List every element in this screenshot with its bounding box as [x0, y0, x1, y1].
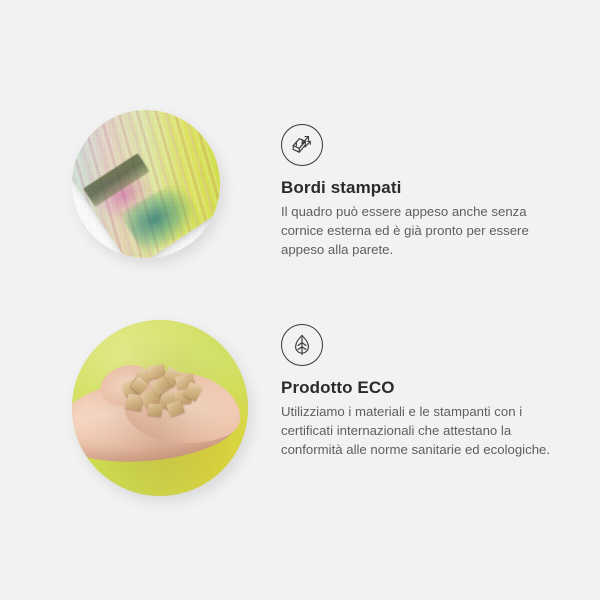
- canvas-artwork-illustration: [72, 110, 220, 258]
- hands-holding-wood-chips-photo: [72, 320, 248, 496]
- photo-shadow-overlay: [72, 320, 248, 496]
- printed-edges-icon: [281, 124, 323, 166]
- leaf-icon: [281, 324, 323, 366]
- product-features-panel: Bordi stampati Il quadro può essere appe…: [0, 0, 600, 600]
- feature-title: Bordi stampati: [281, 178, 581, 198]
- feature-text-eco-product: Prodotto ECO Utilizziamo i materiali e l…: [281, 324, 581, 460]
- canvas-texture-grain: [72, 110, 220, 258]
- feature-title: Prodotto ECO: [281, 378, 581, 398]
- eco-photo-illustration: [72, 320, 248, 496]
- feature-description: Il quadro può essere appeso anche senza …: [281, 203, 559, 260]
- feature-description: Utilizziamo i materiali e le stampanti c…: [281, 403, 559, 460]
- feature-text-printed-edges: Bordi stampati Il quadro può essere appe…: [281, 124, 581, 260]
- canvas-print-corner-photo: [72, 110, 220, 258]
